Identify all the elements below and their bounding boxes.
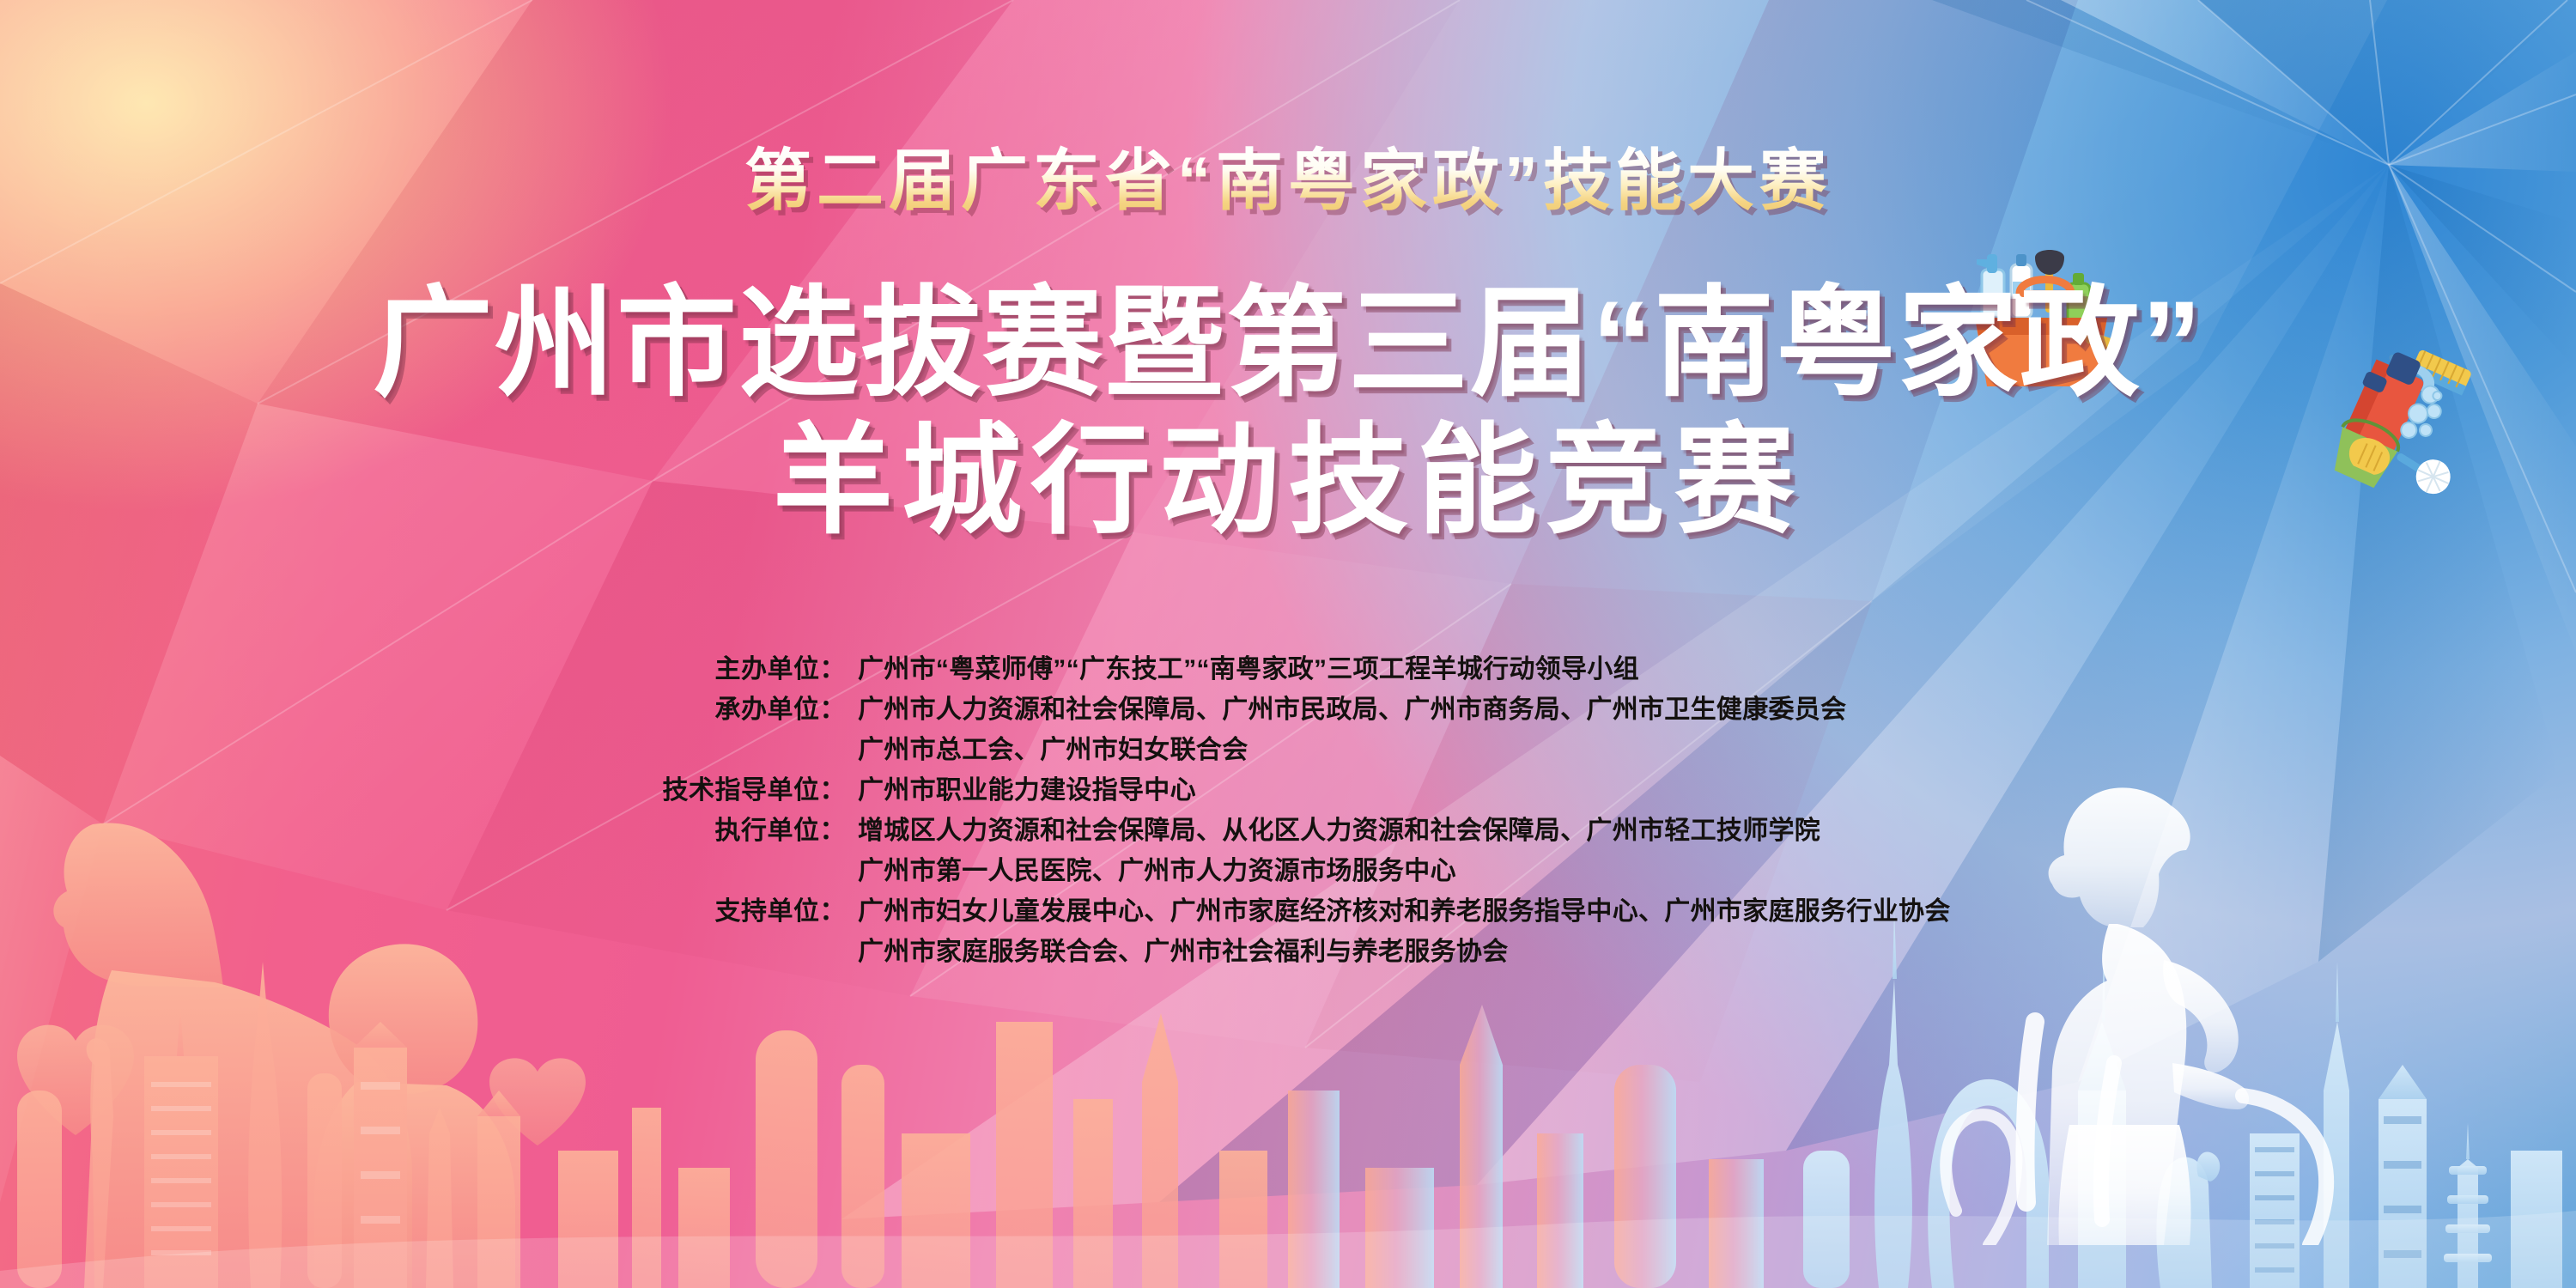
credit-label-executor: 执行单位：	[653, 818, 846, 844]
credit-label-supporter: 支持单位：	[653, 899, 846, 925]
credit-row-technical-guidance: 技术指导单位： 广州市职业能力建设指导中心	[653, 778, 2112, 804]
credit-row-supporter-cont: 广州市家庭服务联合会、广州市社会福利与养老服务协会	[653, 939, 2112, 965]
credit-row-host: 承办单位： 广州市人力资源和社会保障局、广州市民政局、广州市商务局、广州市卫生健…	[653, 697, 2112, 723]
credit-text-executor-2: 广州市第一人民医院、广州市人力资源市场服务中心	[846, 859, 2112, 884]
credit-label-organizer: 主办单位：	[653, 657, 846, 683]
credits-block: 主办单位： 广州市“粤菜师傅”“广东技工”“南粤家政”三项工程羊城行动领导小组 …	[653, 657, 2112, 980]
credit-row-host-cont: 广州市总工会、广州市妇女联合会	[653, 738, 2112, 763]
credit-row-supporter: 支持单位： 广州市妇女儿童发展中心、广州市家庭经济核对和养老服务指导中心、广州市…	[653, 899, 2112, 925]
credit-row-executor-cont: 广州市第一人民医院、广州市人力资源市场服务中心	[653, 859, 2112, 884]
credit-text-executor-1: 增城区人力资源和社会保障局、从化区人力资源和社会保障局、广州市轻工技师学院	[846, 818, 2112, 844]
poster-canvas: 第二届广东省“南粤家政”技能大赛 广州市选拔赛暨第三届“南粤家政” 羊城行动技能…	[0, 0, 2576, 1288]
credit-text-host-1: 广州市人力资源和社会保障局、广州市民政局、广州市商务局、广州市卫生健康委员会	[846, 697, 2112, 723]
credit-text-supporter-1: 广州市妇女儿童发展中心、广州市家庭经济核对和养老服务指导中心、广州市家庭服务行业…	[846, 899, 2112, 925]
credit-label-technical-guidance: 技术指导单位：	[653, 778, 846, 804]
credit-label-host: 承办单位：	[653, 697, 846, 723]
credit-text-host-2: 广州市总工会、广州市妇女联合会	[846, 738, 2112, 763]
credit-text-technical-guidance: 广州市职业能力建设指导中心	[846, 778, 2112, 804]
credit-text-supporter-2: 广州市家庭服务联合会、广州市社会福利与养老服务协会	[846, 939, 2112, 965]
main-title-line1: 广州市选拔赛暨第三届“南粤家政”	[0, 283, 2576, 404]
main-title-line2: 羊城行动技能竞赛	[0, 421, 2576, 541]
credit-text-organizer: 广州市“粤菜师傅”“广东技工”“南粤家政”三项工程羊城行动领导小组	[846, 657, 2112, 683]
credit-row-organizer: 主办单位： 广州市“粤菜师傅”“广东技工”“南粤家政”三项工程羊城行动领导小组	[653, 657, 2112, 683]
credit-row-executor: 执行单位： 增城区人力资源和社会保障局、从化区人力资源和社会保障局、广州市轻工技…	[653, 818, 2112, 844]
event-kicker-title: 第二届广东省“南粤家政”技能大赛	[0, 144, 2576, 218]
